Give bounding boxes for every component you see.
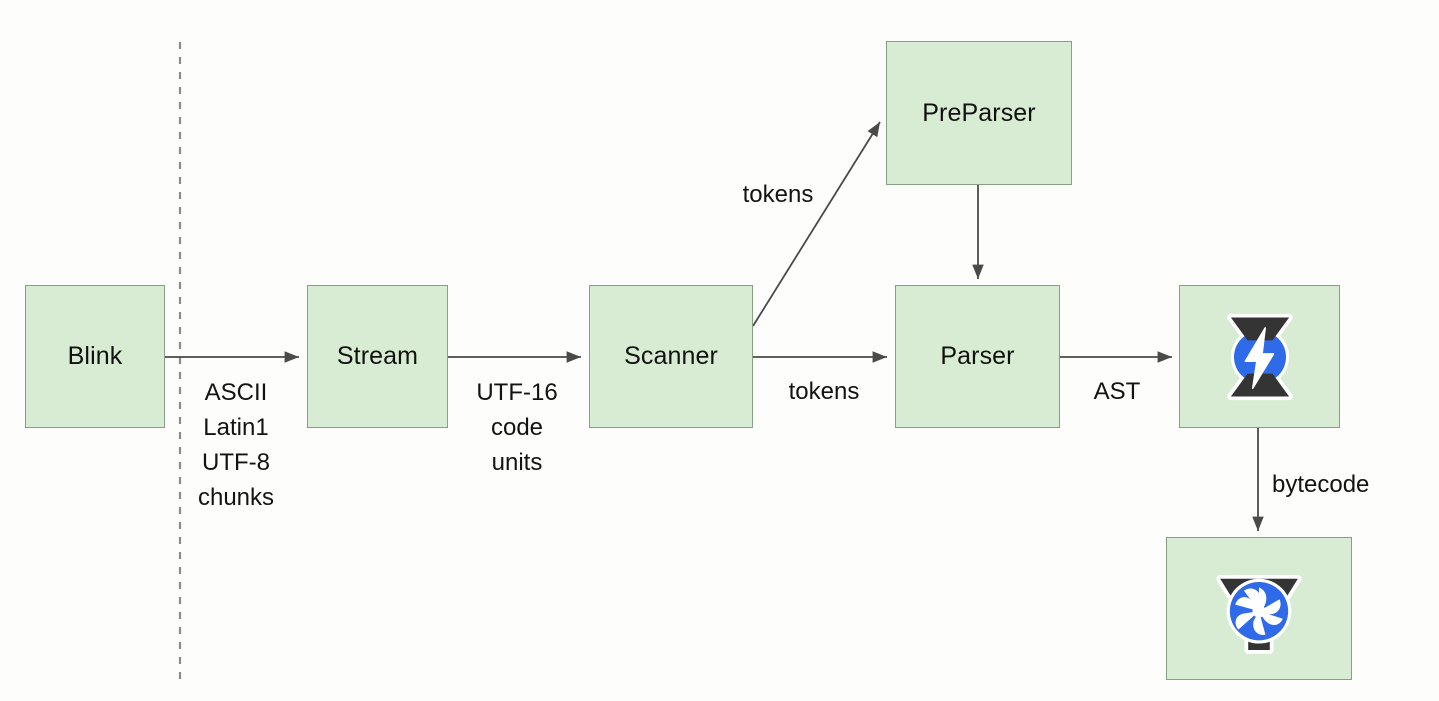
node-parser[interactable]: Parser bbox=[895, 285, 1060, 428]
edge-scanner-to-preparser bbox=[753, 122, 880, 326]
node-blink[interactable]: Blink bbox=[25, 285, 165, 428]
edge-label-bytecode: bytecode bbox=[1272, 468, 1412, 502]
edge-label-encodings-chunks: ASCIILatin1UTF-8chunks bbox=[176, 375, 296, 515]
turbofan-icon bbox=[1167, 538, 1351, 679]
node-blink-label: Blink bbox=[68, 342, 123, 371]
diagram-canvas: Blink Stream Scanner PreParser Parser bbox=[0, 0, 1439, 701]
edge-label-tokens-parser: tokens bbox=[764, 375, 884, 409]
node-stream[interactable]: Stream bbox=[307, 285, 448, 428]
node-preparser-label: PreParser bbox=[922, 99, 1035, 128]
node-turbofan[interactable] bbox=[1166, 537, 1352, 680]
edge-label-utf16-code-units: UTF-16codeunits bbox=[457, 375, 577, 480]
ignition-icon bbox=[1180, 286, 1339, 427]
node-scanner-label: Scanner bbox=[624, 342, 718, 371]
node-ignition[interactable] bbox=[1179, 285, 1340, 428]
edge-label-ast: AST bbox=[1062, 375, 1172, 409]
edge-label-tokens-preparser: tokens bbox=[718, 178, 838, 212]
node-scanner[interactable]: Scanner bbox=[589, 285, 753, 428]
node-preparser[interactable]: PreParser bbox=[886, 41, 1072, 185]
node-parser-label: Parser bbox=[940, 342, 1014, 371]
node-stream-label: Stream bbox=[337, 342, 418, 371]
